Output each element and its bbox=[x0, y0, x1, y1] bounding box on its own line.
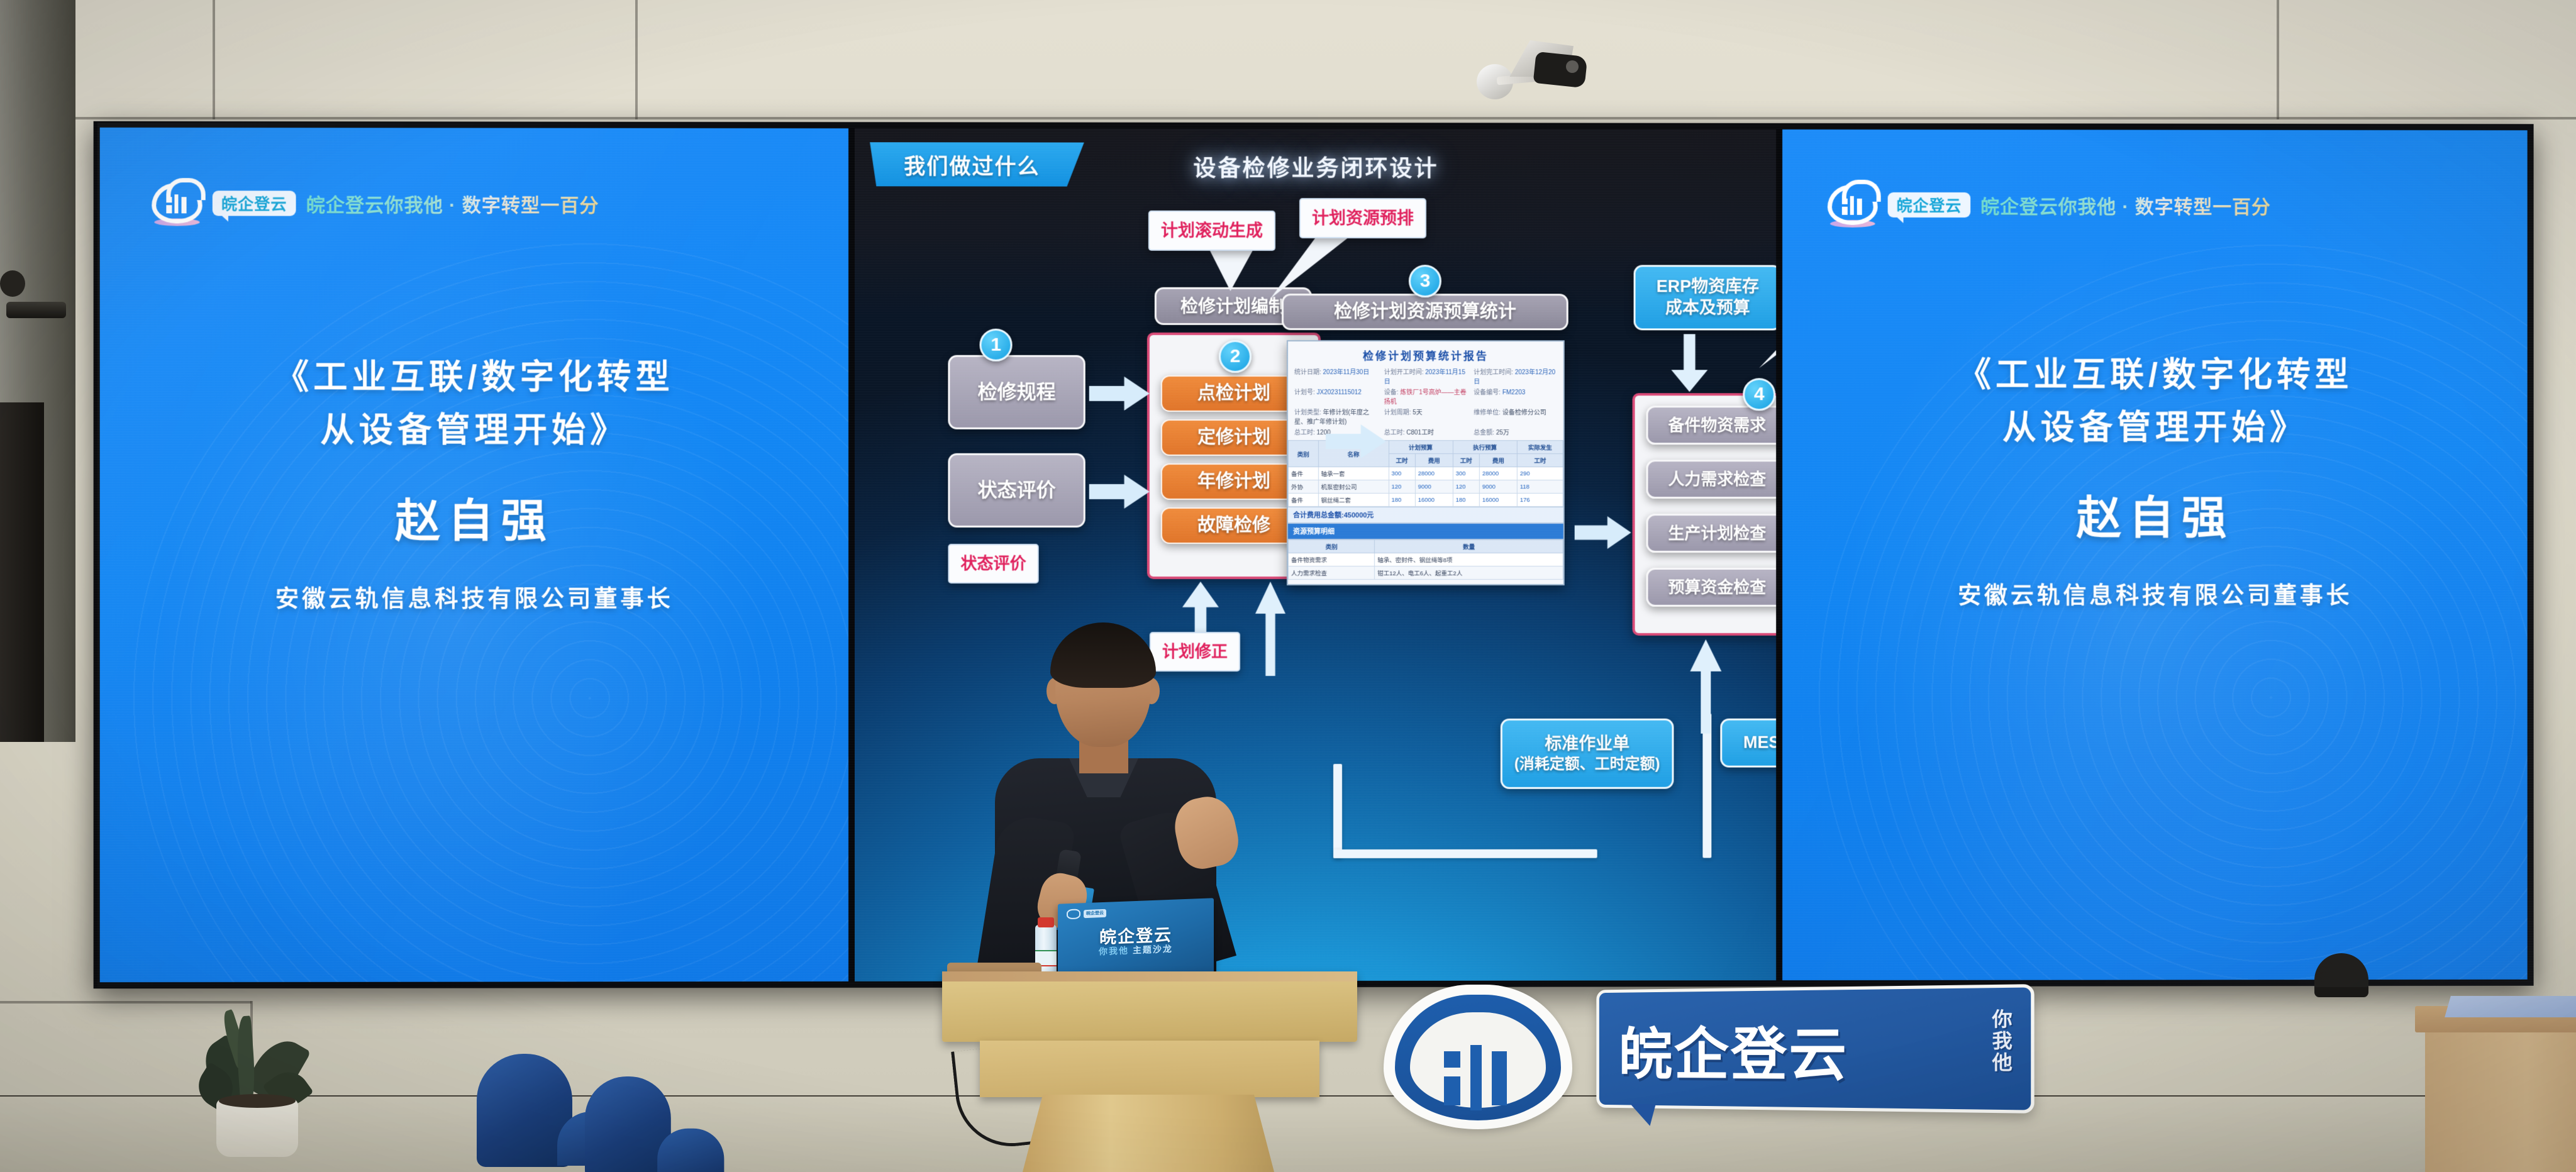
wall-brand-sign: 皖企登云 你我他 bbox=[1377, 981, 2044, 1125]
plan-item-1[interactable]: 定修计划 bbox=[1161, 419, 1307, 456]
callout-resource-prearrange: 计划资源预排 bbox=[1299, 198, 1426, 239]
table-row: 备件钢丝绳二套 18016000 18016000 176 bbox=[1288, 493, 1563, 506]
door-panel bbox=[0, 402, 44, 742]
security-camera-icon bbox=[1453, 25, 1566, 97]
title-block: 《工业互联/数字化转型 从设备管理开始》 赵自强 安徽云轨信息科技有限公司董事长 bbox=[100, 351, 848, 614]
arrow-up-to-plan-b bbox=[1255, 582, 1285, 676]
step-badge-1: 1 bbox=[980, 329, 1013, 362]
logo-wordmark-text: 皖企登云 bbox=[221, 192, 287, 214]
table-row: 人力需求检查钳工12人、电工6人、起重工2人 bbox=[1288, 566, 1563, 579]
laptop-logo-text: 皖企登云 bbox=[1084, 909, 1106, 917]
report-table-2: 类别 数量 备件物资需求轴承、密封件、钢丝绳等8项 人力需求检查钳工12人、电工… bbox=[1288, 539, 1563, 580]
report-meta: 统计日期: 2023年11月30日 计划开工时间: 2023年11月15日 计划… bbox=[1288, 367, 1563, 440]
arrow-mes-to-resource bbox=[1690, 639, 1721, 734]
arrow-rules-to-plan bbox=[1089, 377, 1150, 411]
brand-slogan: 皖企登云你我他 · 数字转型一百分 bbox=[1980, 191, 2271, 219]
door-knob[interactable] bbox=[0, 270, 25, 297]
wall-grout-line bbox=[0, 1001, 252, 1003]
title-line-1: 《工业互联/数字化转型 bbox=[100, 351, 848, 404]
arrow-assessment-to-plan bbox=[1089, 475, 1150, 509]
side-table bbox=[2415, 1006, 2576, 1172]
title-block: 《工业互联/数字化转型 从设备管理开始》 赵自强 安徽云轨信息科技有限公司董事长 bbox=[1782, 349, 2528, 611]
step-badge-3: 3 bbox=[1409, 265, 1441, 297]
report-subtotal: 合计费用总金额:450000元 bbox=[1288, 507, 1563, 523]
title-line-2: 从设备管理开始》 bbox=[100, 404, 848, 457]
report-table: 类别 名称 计划预算 执行预算 实际发生 工时费用 工时费用 工时 bbox=[1288, 440, 1563, 507]
resource-item-0[interactable]: 备件物资需求 bbox=[1646, 406, 1777, 445]
speaker-org: 安徽云轨信息科技有限公司董事长 bbox=[1782, 577, 2528, 611]
step-badge-2: 2 bbox=[1219, 340, 1252, 373]
brand-slogan: 皖企登云你我他 · 数字转型一百分 bbox=[306, 189, 599, 218]
arrow-erp-down bbox=[1671, 334, 1707, 392]
slide-title: 设备检修业务闭环设计 bbox=[855, 150, 1776, 184]
laptop-screen[interactable]: 皖企登云 皖企登云 你我他 主题沙龙 bbox=[1058, 898, 1214, 980]
resource-item-2[interactable]: 生产计划检查 bbox=[1646, 514, 1777, 553]
brand-header: 皖企登云 皖企登云你我他 · 数字转型一百分 bbox=[152, 183, 599, 224]
resource-item-1[interactable]: 人力需求检查 bbox=[1646, 460, 1777, 499]
brand-sign-main-text: 皖企登云 bbox=[1619, 1007, 1848, 1092]
conference-room-photo: 皖企登云 皖企登云你我他 · 数字转型一百分 《工业互联/数字化转型 从设备管理… bbox=[0, 0, 2576, 1172]
wall-grout-line bbox=[635, 0, 638, 119]
plan-item-2[interactable]: 年修计划 bbox=[1161, 463, 1307, 500]
callout-rolling-plan: 计划滚动生成 bbox=[1148, 211, 1275, 252]
logo-wordmark: 皖企登云 bbox=[213, 191, 296, 216]
logo-wordmark: 皖企登云 bbox=[1888, 192, 1971, 218]
speaker-name: 赵自强 bbox=[1782, 481, 2528, 547]
right-title-panel: 皖企登云 皖企登云你我他 · 数字转型一百分 《工业互联/数字化转型 从设备管理… bbox=[1782, 130, 2528, 980]
report-screenshot[interactable]: 检修计划预算统计报告 统计日期: 2023年11月30日 计划开工时间: 202… bbox=[1287, 340, 1565, 585]
title-line-2: 从设备管理开始》 bbox=[1782, 402, 2528, 455]
plan-item-3[interactable]: 故障检修 bbox=[1161, 507, 1307, 544]
resource-item-3[interactable]: 预算资金检查 bbox=[1646, 568, 1777, 607]
table-row: 备件物资需求轴承、密封件、钢丝绳等8项 bbox=[1288, 553, 1563, 566]
wall-grout-line bbox=[2277, 0, 2279, 119]
connector-line bbox=[1333, 764, 1342, 858]
node-inspection-rules[interactable]: 检修规程 bbox=[948, 355, 1085, 429]
door-frame bbox=[0, 0, 75, 742]
node-condition-assessment[interactable]: 状态评价 bbox=[948, 453, 1085, 528]
step-badge-4: 4 bbox=[1743, 378, 1775, 411]
audience-chair bbox=[2314, 953, 2390, 1029]
node-budget-statistics[interactable]: 检修计划资源预算统计 bbox=[1282, 294, 1568, 330]
bottom-source-standard-worksheet[interactable]: 标准作业单 (消耗定额、工时定额) bbox=[1501, 719, 1674, 789]
cloud-logo-icon bbox=[152, 183, 202, 223]
table-row: 备件轴承一套 30028000 30028000 290 bbox=[1288, 467, 1563, 480]
callout-condition-assessment: 状态评价 bbox=[948, 544, 1038, 583]
plan-item-0[interactable]: 点检计划 bbox=[1161, 375, 1307, 412]
brand-sign-board: 皖企登云 你我他 bbox=[1596, 984, 2034, 1114]
brand-header: 皖企登云 皖企登云你我他 · 数字转型一百分 bbox=[1828, 185, 2271, 226]
logo-wordmark-text: 皖企登云 bbox=[1897, 194, 1962, 216]
laptop-logo-icon: 皖企登云 bbox=[1067, 908, 1106, 919]
report-section-2-title: 资源预算明细 bbox=[1288, 523, 1563, 539]
lectern: 皖企登云 皖企登云 你我他 主题沙龙 bbox=[942, 971, 1357, 1172]
arrow-budget-to-resource bbox=[1575, 516, 1631, 549]
speaker-org: 安徽云轨信息科技有限公司董事长 bbox=[100, 580, 848, 614]
bottom-source-mes[interactable]: MES生产系统 bbox=[1720, 719, 1776, 768]
node-erp-source[interactable]: ERP物资库存 成本及预算 bbox=[1634, 265, 1777, 330]
report-title: 检修计划预算统计报告 bbox=[1288, 341, 1563, 367]
potted-plant bbox=[189, 1005, 327, 1156]
wall-grout-line bbox=[0, 117, 2576, 119]
title-line-1: 《工业互联/数字化转型 bbox=[1782, 349, 2528, 402]
table-row: 外协机泵密封公司 1209000 1209000 118 bbox=[1288, 480, 1563, 493]
cloud-logo-icon bbox=[1384, 985, 1572, 1129]
brand-sign-small-text: 你我他 bbox=[1985, 1009, 2014, 1073]
cloud-logo-icon bbox=[1828, 185, 1878, 225]
speaker-name: 赵自强 bbox=[100, 484, 848, 550]
connector-line bbox=[1702, 714, 1711, 858]
connector-line bbox=[1333, 849, 1597, 858]
led-video-wall: 皖企登云 皖企登云你我他 · 数字转型一百分 《工业互联/数字化转型 从设备管理… bbox=[94, 121, 2534, 989]
wall-grout-line bbox=[213, 0, 215, 119]
left-title-panel: 皖企登云 皖企登云你我他 · 数字转型一百分 《工业互联/数字化转型 从设备管理… bbox=[100, 128, 848, 982]
door-handle[interactable] bbox=[6, 302, 66, 318]
